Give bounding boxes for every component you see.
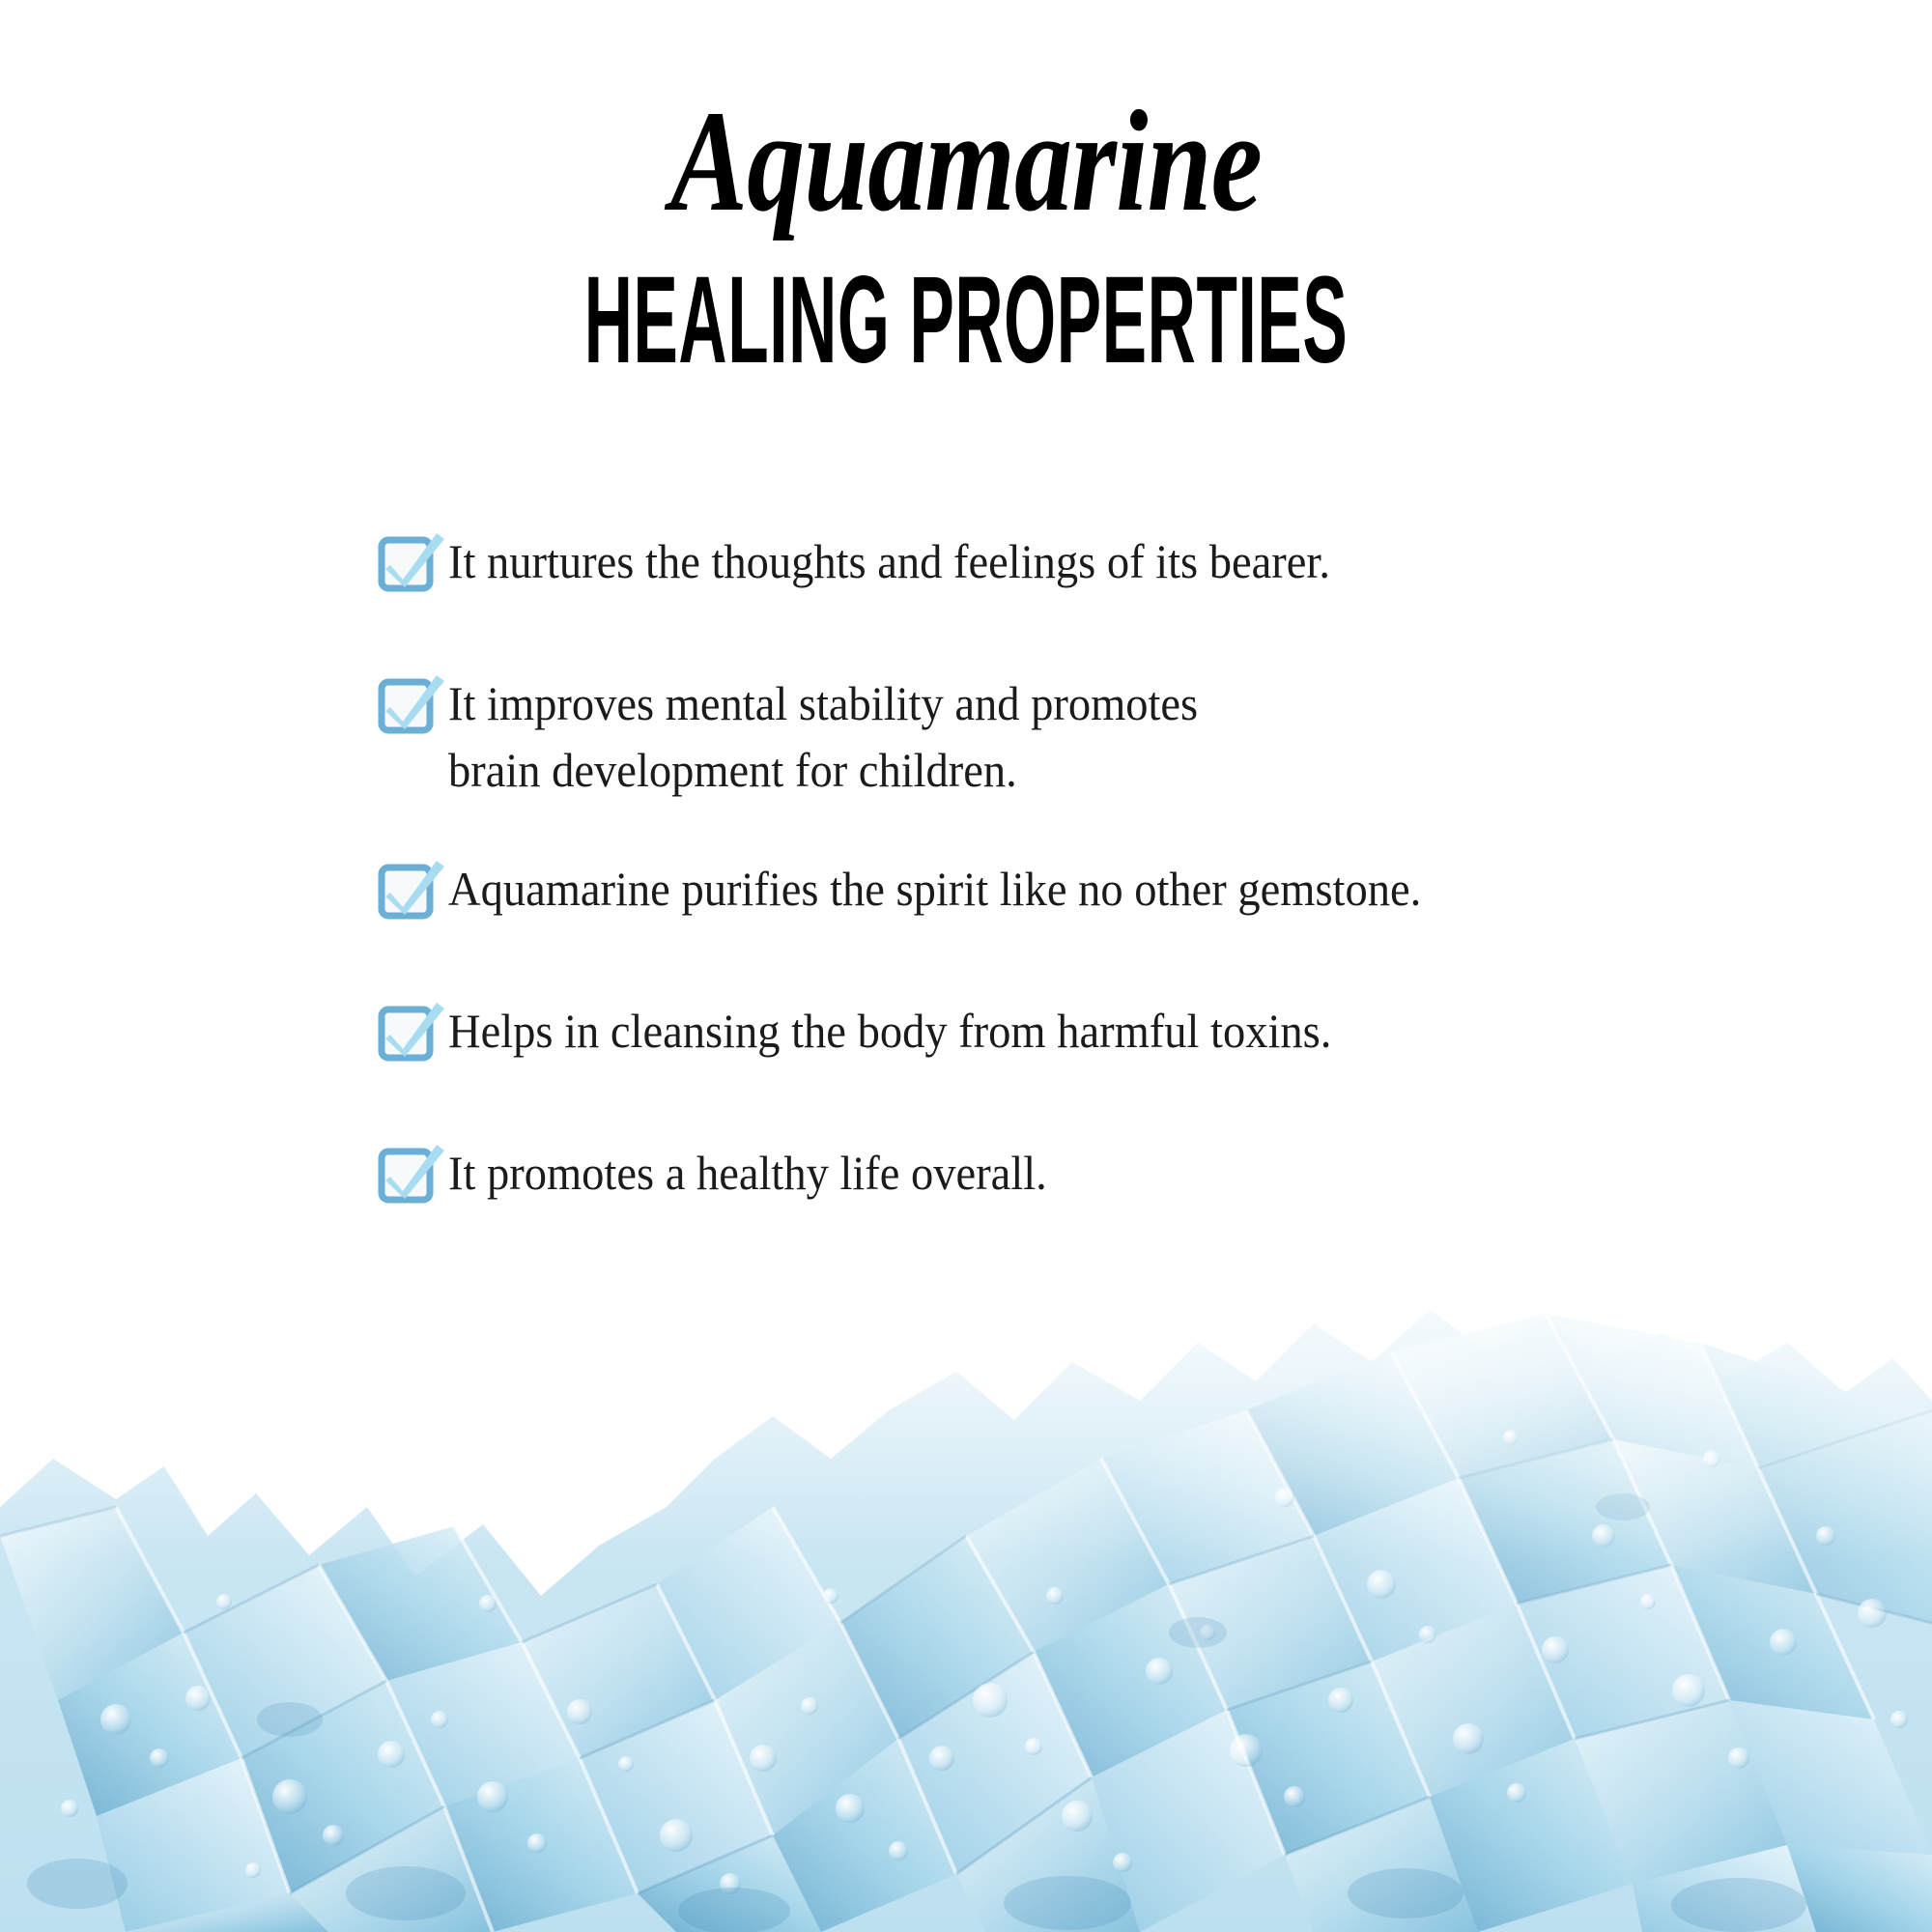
list-item-label: Aquamarine purifies the spirit like no o… (448, 854, 1712, 923)
list-item-label: It improves mental stability and promote… (448, 668, 1712, 804)
checked-checkbox-icon (377, 858, 448, 922)
page-subtitle: HEALING PROPERTIES (367, 259, 1565, 383)
ice-cubes-photo (0, 1217, 1932, 1932)
healing-properties-list: It nurtures the thoughts and feelings of… (377, 526, 1806, 1280)
page-title: Aquamarine (193, 89, 1739, 234)
checked-checkbox-icon (377, 530, 448, 594)
checked-checkbox-icon (377, 1142, 448, 1206)
list-item: It nurtures the thoughts and feelings of… (377, 526, 1806, 595)
poster-header: Aquamarine HEALING PROPERTIES (0, 0, 1932, 367)
list-item-label: Helps in cleansing the body from harmful… (448, 996, 1712, 1065)
list-item-label: It nurtures the thoughts and feelings of… (448, 526, 1712, 595)
list-item: Aquamarine purifies the spirit like no o… (377, 854, 1806, 923)
list-item: Helps in cleansing the body from harmful… (377, 996, 1806, 1065)
checked-checkbox-icon (377, 1000, 448, 1064)
checked-checkbox-icon (377, 672, 448, 736)
list-item-label: It promotes a healthy life overall. (448, 1138, 1712, 1207)
list-item: It improves mental stability and promote… (377, 668, 1806, 804)
list-item: It promotes a healthy life overall. (377, 1138, 1806, 1207)
poster-canvas: Aquamarine HEALING PROPERTIES It nurture… (0, 0, 1932, 1932)
